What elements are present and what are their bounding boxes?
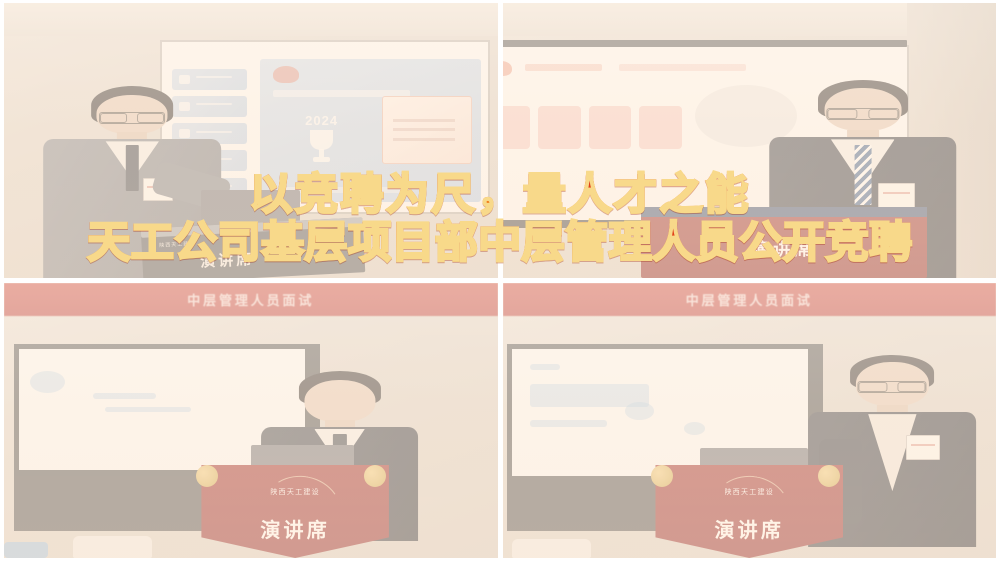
slide-decoration	[625, 402, 655, 420]
slide-footer-line	[282, 187, 406, 193]
lectern: 演讲席	[641, 207, 927, 279]
slide-subheading-line	[619, 64, 746, 71]
certificate-graphic	[382, 96, 473, 164]
lectern-sign-small: 陕西天工建设	[159, 240, 195, 249]
slide-tile	[589, 106, 632, 149]
necktie	[126, 145, 138, 191]
slide-decoration	[530, 364, 560, 370]
chair	[73, 536, 152, 558]
poster-canvas: 2024	[0, 0, 1000, 562]
photo-top-left: 2024	[4, 3, 498, 278]
photo-top-right: 演讲席	[503, 3, 997, 278]
tassel-right	[364, 465, 386, 487]
tassel-right	[818, 465, 840, 487]
glasses-icon	[858, 381, 927, 393]
head	[304, 380, 375, 423]
slide-heading-line	[525, 64, 601, 71]
photo-collage: 2024	[0, 0, 1000, 562]
lectern-sign-large: 演讲席	[641, 235, 927, 260]
chair	[512, 539, 591, 558]
slide-decoration	[30, 371, 64, 393]
slide-decoration	[530, 420, 607, 428]
trophy-icon	[308, 130, 335, 164]
slide-logo-icon	[503, 61, 513, 77]
tassel-left	[651, 465, 673, 487]
slide-decoration	[684, 422, 705, 435]
lectern: 陕西天工建设 演讲席	[141, 217, 366, 278]
photo-bottom-right: 中层管理人员面试 陕西天工建设	[503, 283, 997, 558]
slide-tile	[538, 106, 581, 149]
lectern-sign-large: 演讲席	[200, 248, 255, 272]
slide-decoration	[105, 407, 191, 412]
room-ceiling	[4, 3, 498, 36]
slide-main-panel: 2024	[260, 59, 481, 202]
slide-logo-icon	[273, 66, 300, 83]
glasses-icon	[99, 112, 165, 124]
slide-decoration	[93, 393, 156, 399]
event-banner: 中层管理人员面试	[503, 283, 997, 316]
name-badge	[906, 435, 940, 460]
name-badge	[878, 183, 916, 209]
necktie	[854, 145, 871, 204]
event-banner: 中层管理人员面试	[4, 283, 498, 316]
slide-year-label: 2024	[291, 113, 353, 128]
photo-bottom-left: 中层管理人员面试 陕西天工建设 演讲席	[4, 283, 498, 558]
slide-tile	[503, 106, 530, 149]
glasses-icon	[826, 108, 899, 120]
chair	[4, 542, 48, 559]
slide-tile-row	[503, 106, 683, 149]
tassel-left	[196, 465, 218, 487]
slide-tile	[639, 106, 682, 149]
